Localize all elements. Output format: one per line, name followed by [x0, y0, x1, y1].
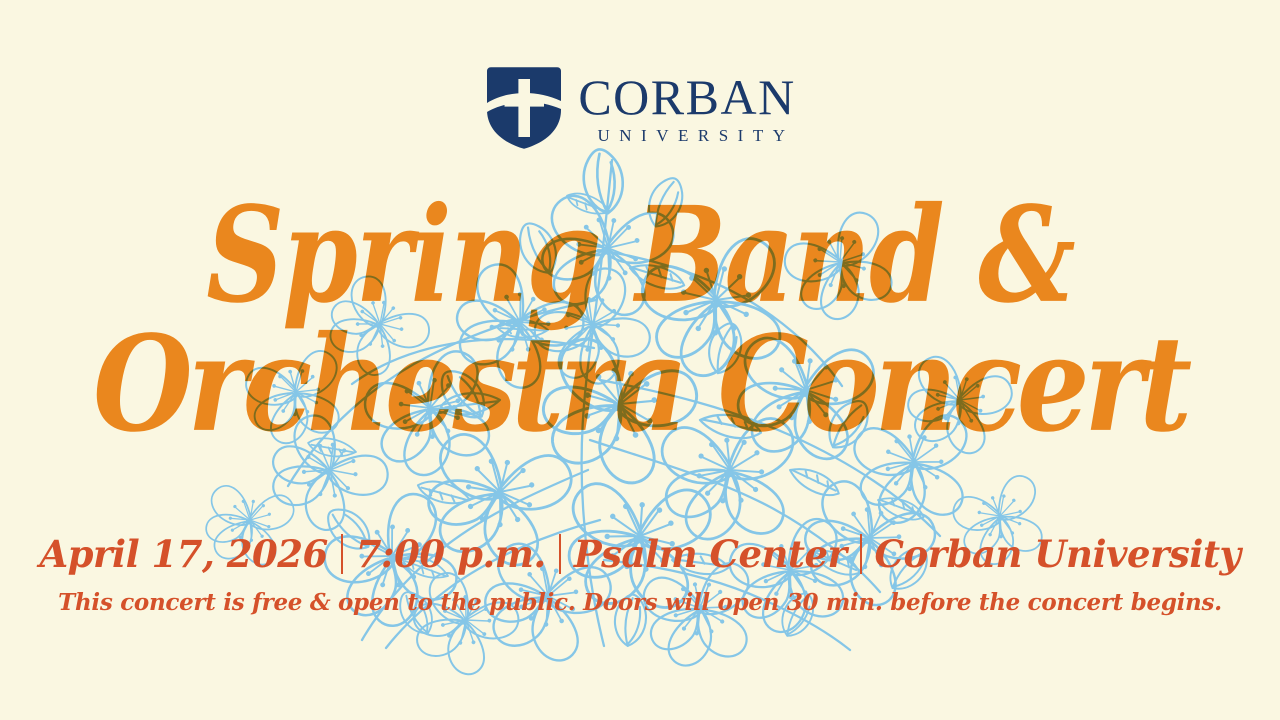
detail-divider-1	[341, 534, 343, 574]
wordmark-corban: CORBAN	[578, 73, 795, 121]
detail-divider-3	[860, 534, 862, 574]
event-date: April 17, 2026	[39, 535, 327, 574]
wordmark-university: UNIVERSITY	[589, 127, 795, 144]
event-details: April 17, 2026 7:00 p.m. Psalm Center Co…	[0, 534, 1280, 616]
event-disclaimer: This concert is free & open to the publi…	[0, 589, 1280, 616]
event-title: Spring Band & Orchestra Concert	[0, 196, 1280, 425]
event-institution: Corban University	[875, 535, 1241, 574]
shield-cross-icon	[484, 65, 564, 151]
wordmark-group: CORBAN UNIVERSITY	[578, 73, 795, 144]
event-poster: CORBAN UNIVERSITY Spring Band & Orchestr…	[0, 0, 1280, 720]
event-title-line-1: Spring Band &	[0, 196, 1280, 317]
event-time: 7:00 p.m.	[356, 535, 546, 574]
event-venue-line: April 17, 2026 7:00 p.m. Psalm Center Co…	[0, 534, 1280, 574]
event-venue: Psalm Center	[574, 535, 847, 574]
corban-university-logo: CORBAN UNIVERSITY	[0, 62, 1280, 154]
event-title-line-2: Orchestra Concert	[0, 325, 1280, 446]
detail-divider-2	[559, 534, 561, 574]
